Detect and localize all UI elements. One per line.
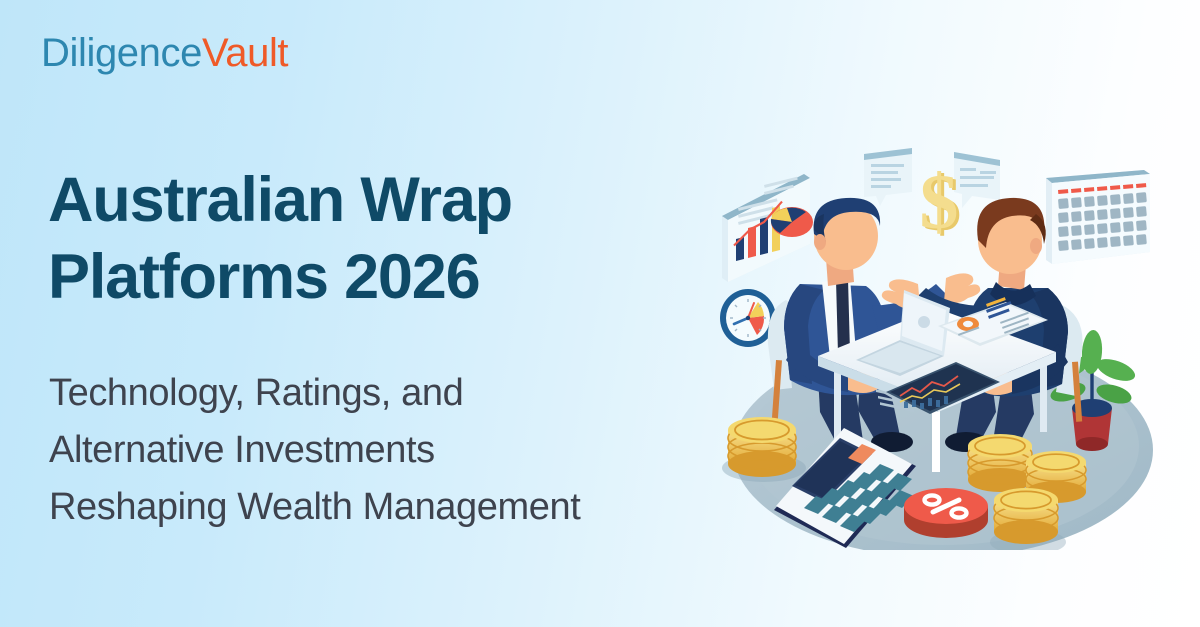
calendar-icon <box>1046 170 1150 264</box>
speech-bubble-left-icon <box>864 148 912 206</box>
logo-text-diligence: Diligence <box>41 31 202 75</box>
headline-line-1: Australian Wrap <box>48 162 648 239</box>
business-meeting-illustration: $ $ <box>700 130 1180 550</box>
svg-text:$: $ <box>920 158 959 245</box>
dollar-sign-icon: $ $ <box>920 158 962 247</box>
subtitle-line-1: Technology, Ratings, and <box>49 365 729 422</box>
page-subtitle: Technology, Ratings, and Alternative Inv… <box>49 365 729 536</box>
coin-stack-right-a <box>968 434 1032 492</box>
subtitle-line-2: Alternative Investments <box>49 422 729 479</box>
hero-illustration: $ $ <box>700 130 1180 550</box>
logo-text-vault: Vault <box>202 31 288 75</box>
pie-chart-icon <box>771 207 813 237</box>
subtitle-line-3: Reshaping Wealth Management <box>49 479 729 536</box>
page-title: Australian Wrap Platforms 2026 <box>48 162 648 316</box>
percent-badge <box>904 488 988 538</box>
wall-clock-icon <box>720 289 776 347</box>
hero-banner: DiligenceVault Australian Wrap Platforms… <box>0 0 1200 627</box>
coin-stack-right-c <box>990 488 1066 550</box>
coin-stack-left <box>722 417 806 482</box>
headline-line-2: Platforms 2026 <box>48 239 648 316</box>
analytics-board-icon <box>722 174 813 282</box>
brand-logo[interactable]: DiligenceVault <box>41 31 288 76</box>
